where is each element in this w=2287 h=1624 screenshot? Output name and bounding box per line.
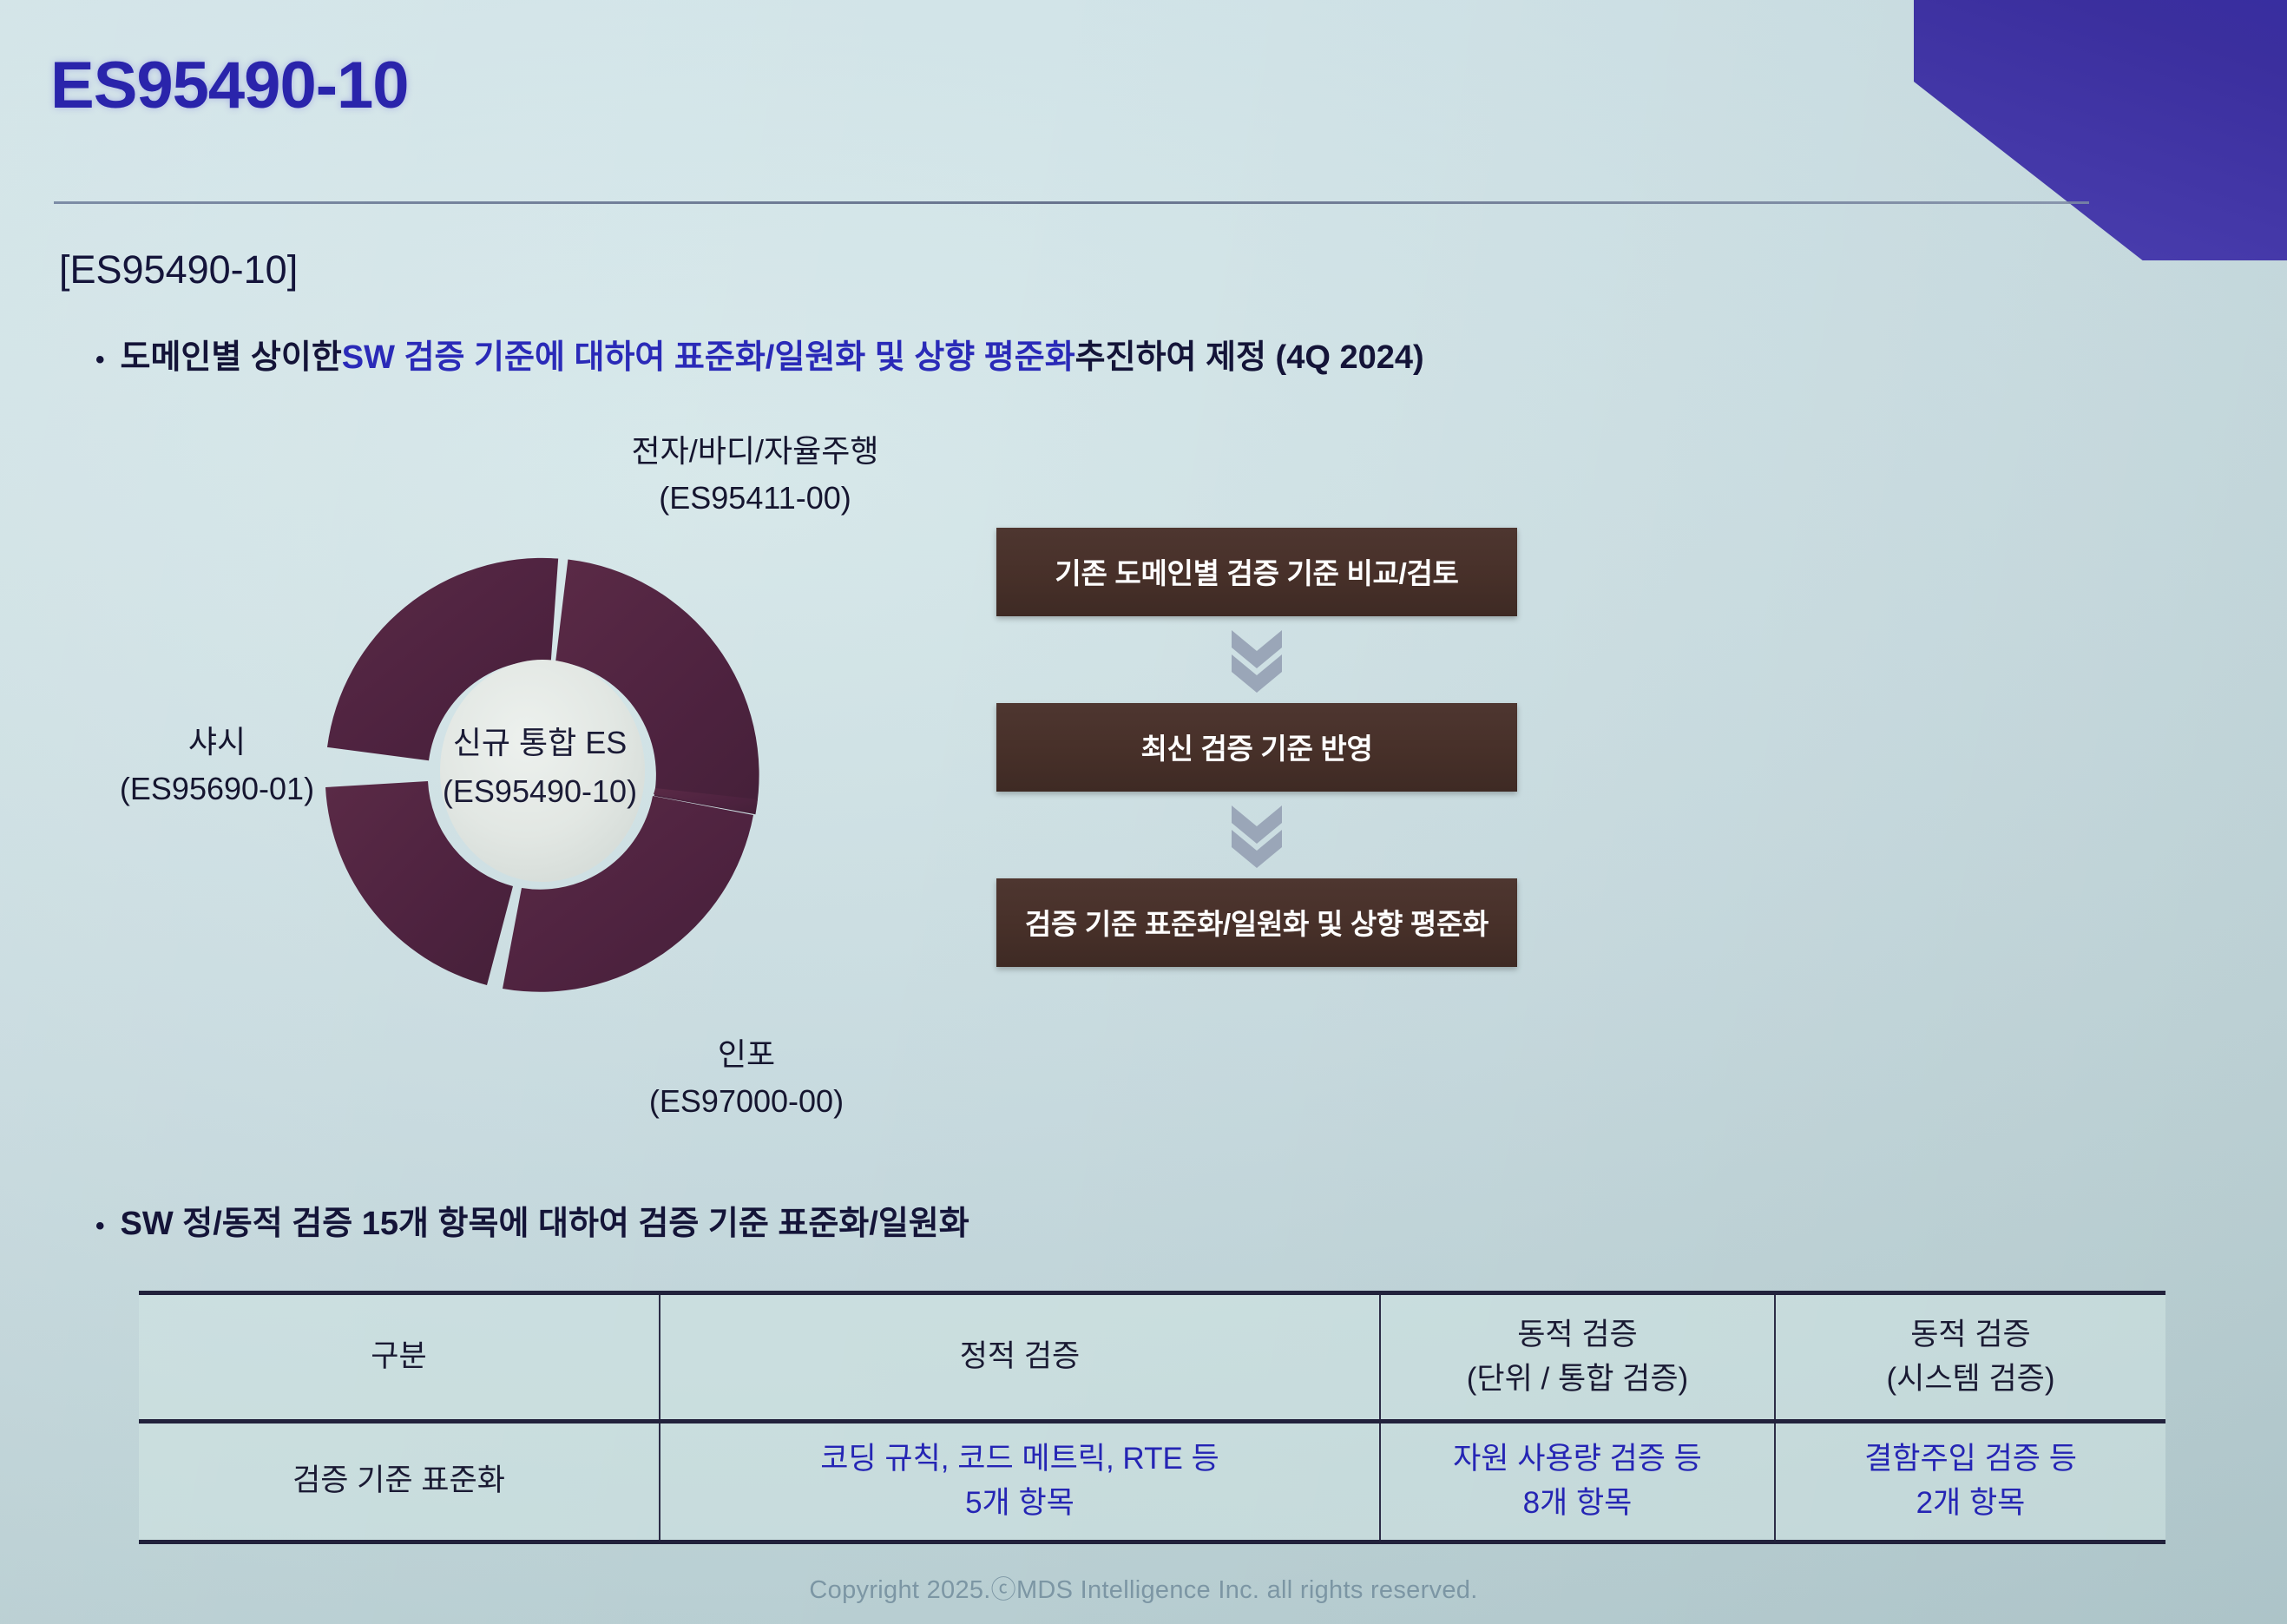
table-header-cell-3: 동적 검증 (단위 / 통합 검증) xyxy=(1380,1293,1775,1422)
table-cell-dynamic-system-line2: 2개 항목 xyxy=(1783,1482,2159,1526)
table-header-cell-1: 구분 xyxy=(139,1293,660,1422)
table-header: 구분 정적 검증 동적 검증 (단위 / 통합 검증) 동적 검증 (시스템 검… xyxy=(139,1293,2165,1422)
table-header-cell-3-line2: (단위 / 통합 검증) xyxy=(1388,1358,1767,1402)
table-row-label-text: 검증 기준 표준화 xyxy=(146,1459,652,1503)
diagram-label-top-code: (ES95411-00) xyxy=(573,475,937,522)
flow-arrow-1 xyxy=(996,616,1517,703)
donut-center-name: 신규 통합 ES xyxy=(423,719,657,767)
table-body: 검증 기준 표준화 코딩 규칙, 코드 메트릭, RTE 등 5개 항목 자원 … xyxy=(139,1422,2165,1542)
flow-step-2: 최신 검증 기준 반영 xyxy=(996,703,1517,792)
table-cell-dynamic-unit: 자원 사용량 검증 등 8개 항목 xyxy=(1380,1422,1775,1542)
table-row: 검증 기준 표준화 코딩 규칙, 코드 메트릭, RTE 등 5개 항목 자원 … xyxy=(139,1422,2165,1542)
donut-center-label: 신규 통합 ES (ES95490-10) xyxy=(423,719,657,816)
bullet-1-segment-1: 도메인별 상이한 xyxy=(121,330,342,378)
process-flow: 기존 도메인별 검증 기준 비교/검토 최신 검증 기준 반영 검증 기준 표준… xyxy=(996,528,1517,967)
bullet-2-text: SW 정/동적 검증 15개 항목에 대하여 검증 기준 표준화/일원화 xyxy=(121,1196,969,1244)
table-cell-static-verification: 코딩 규칙, 코드 메트릭, RTE 등 5개 항목 xyxy=(660,1422,1380,1542)
diagram-label-left-code: (ES95690-01) xyxy=(74,766,360,812)
diagram-label-top: 전자/바디/자율주행 (ES95411-00) xyxy=(573,428,937,522)
table-cell-static-line1: 코딩 규칙, 코드 메트릭, RTE 등 xyxy=(667,1437,1372,1482)
diagram-label-left-name: 샤시 xyxy=(74,719,360,766)
table-header-cell-4-line1: 동적 검증 xyxy=(1783,1313,2159,1358)
donut-center-code: (ES95490-10) xyxy=(423,767,657,816)
diagram-label-bottom: 인포 (ES97000-00) xyxy=(573,1031,920,1125)
page-title: ES95490-10 xyxy=(50,48,409,123)
diagram-label-bottom-name: 인포 xyxy=(573,1031,920,1078)
title-divider xyxy=(54,201,2089,204)
bullet-item-2: • SW 정/동적 검증 15개 항목에 대하여 검증 기준 표준화/일원화 xyxy=(95,1196,969,1244)
table-header-cell-1-line1: 구분 xyxy=(146,1335,652,1379)
flow-arrow-2 xyxy=(996,792,1517,878)
bullet-marker-icon: • xyxy=(95,347,105,373)
table-header-cell-2-line1: 정적 검증 xyxy=(667,1335,1372,1379)
table-header-cell-3-line1: 동적 검증 xyxy=(1388,1313,1767,1358)
table-cell-dynamic-system-line1: 결함주입 검증 등 xyxy=(1783,1437,2159,1482)
section-label: [ES95490-10] xyxy=(59,247,298,293)
flow-step-1: 기존 도메인별 검증 기준 비교/검토 xyxy=(996,528,1517,616)
bullet-item-1: • 도메인별 상이한 SW 검증 기준에 대하여 표준화/일원화 및 상향 평준… xyxy=(95,330,1424,378)
table-header-cell-2: 정적 검증 xyxy=(660,1293,1380,1422)
table-cell-dynamic-unit-line2: 8개 항목 xyxy=(1388,1482,1767,1526)
diagram-label-left: 샤시 (ES95690-01) xyxy=(74,719,360,812)
corner-wedge-dark xyxy=(1914,0,2287,260)
diagram-label-bottom-code: (ES97000-00) xyxy=(573,1078,920,1125)
table-header-cell-4: 동적 검증 (시스템 검증) xyxy=(1775,1293,2165,1422)
table-header-row: 구분 정적 검증 동적 검증 (단위 / 통합 검증) 동적 검증 (시스템 검… xyxy=(139,1293,2165,1422)
diagram-label-top-name: 전자/바디/자율주행 xyxy=(573,428,937,475)
corner-wedge-decoration xyxy=(1914,0,2287,260)
bullet-1-segment-2: SW 검증 기준에 대하여 표준화/일원화 및 상향 평준화 xyxy=(342,330,1075,378)
chevron-down-icon xyxy=(1226,800,1287,870)
table-cell-dynamic-unit-line1: 자원 사용량 검증 등 xyxy=(1388,1437,1767,1482)
copyright-footer: Copyright 2025.ⓒMDS Intelligence Inc. al… xyxy=(0,1569,2287,1606)
bullet-1-segment-3: 추진하여 제정 (4Q 2024) xyxy=(1075,330,1424,378)
table-cell-dynamic-system: 결함주입 검증 등 2개 항목 xyxy=(1775,1422,2165,1542)
chevron-down-icon xyxy=(1226,625,1287,694)
table-header-cell-4-line2: (시스템 검증) xyxy=(1783,1358,2159,1402)
table-row-label: 검증 기준 표준화 xyxy=(139,1422,660,1542)
flow-step-3: 검증 기준 표준화/일원화 및 상향 평준화 xyxy=(996,878,1517,967)
slide-canvas: ES95490-10 [ES95490-10] • 도메인별 상이한 SW 검증… xyxy=(0,0,2287,1624)
bullet-marker-icon: • xyxy=(95,1213,105,1239)
table-cell-static-line2: 5개 항목 xyxy=(667,1482,1372,1526)
verification-standard-table: 구분 정적 검증 동적 검증 (단위 / 통합 검증) 동적 검증 (시스템 검… xyxy=(139,1291,2165,1544)
